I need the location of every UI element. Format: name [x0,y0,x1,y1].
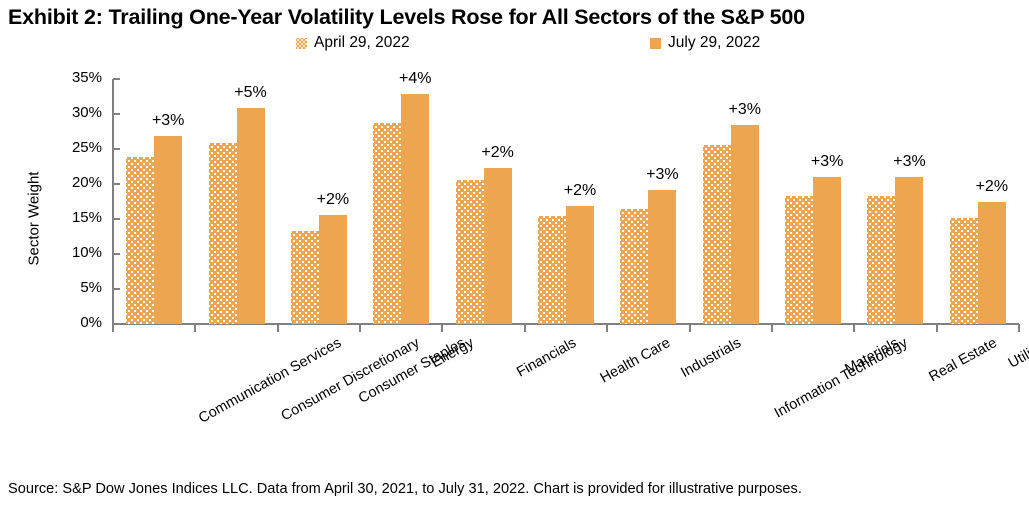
bar-july [895,177,923,324]
legend-label-july: July 29, 2022 [668,34,760,52]
bar-delta-label: +3% [864,152,954,171]
bar-group [950,79,1006,324]
bar-april [950,218,978,324]
bar-april [867,196,895,324]
bar-april [538,216,566,324]
bar-group [209,79,265,324]
bar-delta-label: +2% [453,143,543,162]
bar-april [703,145,731,324]
y-axis-tick-label: 35% [72,68,102,88]
y-axis-tick-mark [113,183,120,185]
bar-april [373,123,401,324]
bar-july [154,136,182,324]
x-axis-label: Financials [514,335,579,382]
y-axis-tick-mark [113,148,120,150]
page-title: Exhibit 2: Trailing One-Year Volatility … [8,4,1021,30]
axis-area: 0%5%10%15%20%25%30%35%+3%Communication S… [113,79,1019,324]
chart-plot-area: Sector Weight 0%5%10%15%20%25%30%35%+3%C… [0,60,1029,470]
legend-swatch-dotted-icon [296,38,307,49]
y-axis-tick-label: 0% [80,313,102,333]
y-axis-tick-mark [113,218,120,220]
bar-delta-label: +2% [535,181,625,200]
bar-delta-label: +3% [123,111,213,130]
x-axis-tick-mark [853,324,855,332]
legend-item-april: April 29, 2022 [296,34,410,52]
y-axis-tick-mark [113,288,120,290]
legend-item-july: July 29, 2022 [650,34,760,52]
bar-july [566,206,594,324]
bar-april [620,209,648,325]
bar-july [978,202,1006,324]
x-axis-tick-mark [194,324,196,332]
bar-july [813,177,841,324]
y-axis-tick-label: 10% [72,243,102,263]
source-note: Source: S&P Dow Jones Indices LLC. Data … [8,480,802,498]
bar-july [648,190,676,324]
bar-july [237,108,265,324]
y-axis-tick-mark [113,113,120,115]
bar-group [373,79,429,324]
y-axis-title: Sector Weight [26,139,43,299]
bar-july [401,94,429,324]
x-axis-tick-mark [771,324,773,332]
bar-delta-label: +3% [700,100,790,119]
x-axis-tick-mark [441,324,443,332]
bar-april [209,143,237,324]
y-axis-tick-label: 5% [80,278,102,298]
x-axis-tick-mark [112,324,114,332]
x-axis-label: Utilities [1006,335,1029,373]
bar-delta-label: +2% [288,190,378,209]
bar-group [785,79,841,324]
x-axis-tick-mark [1018,324,1020,332]
y-axis-tick-mark [113,78,120,80]
bar-april [785,196,813,324]
bar-july [484,168,512,324]
bar-july [731,125,759,324]
bar-delta-label: +3% [782,152,872,171]
y-axis-tick-label: 25% [72,138,102,158]
legend-swatch-solid-icon [650,38,661,49]
x-axis-tick-mark [936,324,938,332]
bar-delta-label: +4% [370,69,460,88]
x-axis-tick-mark [606,324,608,332]
x-axis-label: Health Care [598,335,674,387]
x-axis-label: Real Estate [927,335,1001,386]
bar-delta-label: +2% [947,177,1029,196]
x-axis-tick-mark [524,324,526,332]
chart-legend: April 29, 2022 July 29, 2022 [0,34,1029,56]
bar-delta-label: +3% [617,165,707,184]
x-axis-label: Industrials [679,335,745,382]
x-axis-tick-mark [689,324,691,332]
bar-group [867,79,923,324]
x-axis-label: Communication Services [196,335,345,428]
y-axis-tick-mark [113,253,120,255]
y-axis-tick-label: 30% [72,103,102,123]
bar-april [456,180,484,324]
x-axis-tick-mark [277,324,279,332]
bar-april [291,231,319,324]
y-axis-tick-label: 15% [72,208,102,228]
y-axis-tick-label: 20% [72,173,102,193]
bar-group [538,79,594,324]
legend-label-april: April 29, 2022 [314,34,410,52]
bar-group [456,79,512,324]
x-axis-tick-mark [359,324,361,332]
y-axis-tick-mark [113,323,120,325]
bar-july [319,215,347,324]
bar-april [126,157,154,324]
bar-delta-label: +5% [206,83,296,102]
bar-group [620,79,676,324]
